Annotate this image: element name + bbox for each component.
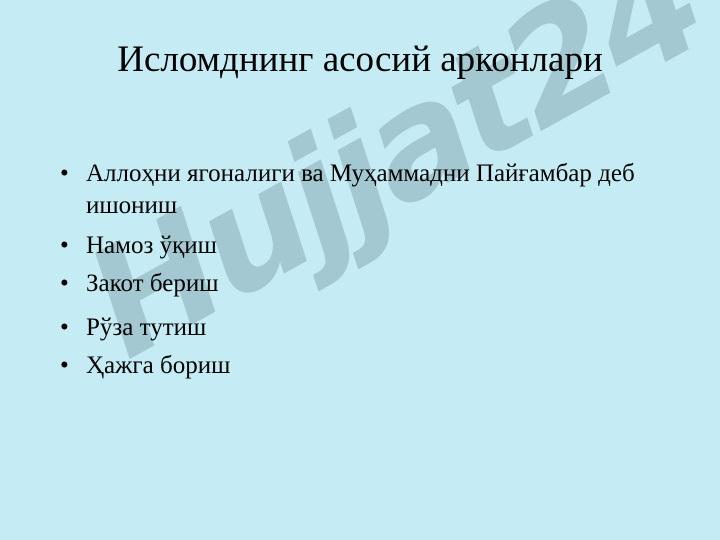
list-item-label: Закот бериш xyxy=(86,270,218,297)
list-item: • Рўза тутиш xyxy=(48,312,678,344)
bullet-list: • Аллоҳни ягоналиги ва Муҳаммадни Пайғам… xyxy=(48,158,678,392)
bullet-marker: • xyxy=(60,312,69,344)
bullet-marker: • xyxy=(60,158,69,190)
bullet-marker: • xyxy=(60,268,69,300)
list-item: • Закот бериш xyxy=(48,268,678,300)
list-item: • Ҳажга бориш xyxy=(48,350,678,382)
list-item-label: Аллоҳни ягоналиги ва Муҳаммадни Пайғамба… xyxy=(86,160,635,219)
list-item-label: Ҳажга бориш xyxy=(86,352,230,379)
list-item: • Аллоҳни ягоналиги ва Муҳаммадни Пайғам… xyxy=(48,158,678,222)
page-title: Исломднинг асосий арконлари xyxy=(0,40,720,81)
bullet-marker: • xyxy=(60,230,69,262)
bullet-marker: • xyxy=(60,350,69,382)
list-item-label: Рўза тутиш xyxy=(86,314,206,341)
list-item: • Намоз ўқиш xyxy=(48,230,678,262)
list-item-label: Намоз ўқиш xyxy=(86,232,217,259)
slide: Hujjat24 Исломднинг асосий арконлари • А… xyxy=(0,0,720,540)
